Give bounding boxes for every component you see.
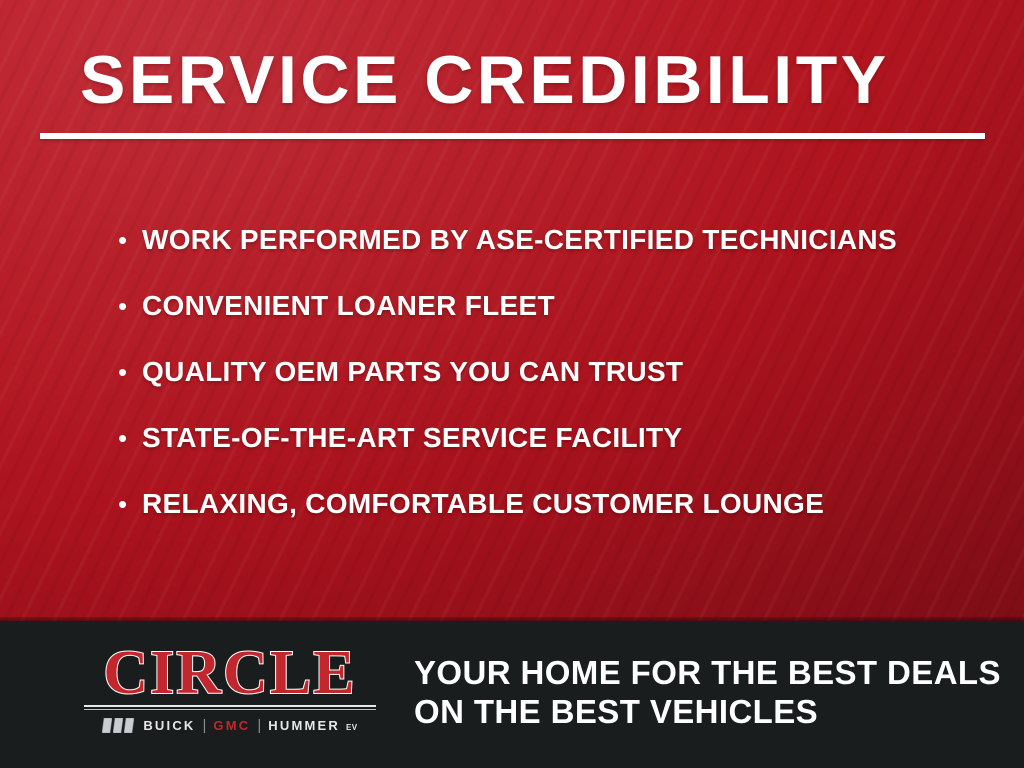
brand-hummer-label: HUMMER xyxy=(268,718,340,733)
tagline-line-2: ON THE BEST VEHICLES xyxy=(414,692,1001,731)
brand-lockup: BUICK | GMC | HUMMER EV xyxy=(84,717,376,734)
service-credibility-slide: SERVICE CREDIBILITY • WORK PERFORMED BY … xyxy=(0,0,1024,768)
buick-tri-shield-icon xyxy=(102,718,134,733)
page-title: SERVICE CREDIBILITY xyxy=(80,44,980,116)
brand-separator: | xyxy=(257,717,261,734)
bullet-dot-icon: • xyxy=(118,491,142,517)
bullet-dot-icon: • xyxy=(118,293,142,319)
brand-separator: | xyxy=(203,717,207,734)
list-item: • WORK PERFORMED BY ASE-CERTIFIED TECHNI… xyxy=(118,224,998,290)
dealer-tagline: YOUR HOME FOR THE BEST DEALS ON THE BEST… xyxy=(414,653,1001,731)
list-item-label: QUALITY OEM PARTS YOU CAN TRUST xyxy=(142,356,683,388)
list-item: • RELAXING, COMFORTABLE CUSTOMER LOUNGE xyxy=(118,488,998,554)
bullet-dot-icon: • xyxy=(118,425,142,451)
list-item-label: CONVENIENT LOANER FLEET xyxy=(142,290,555,322)
list-item-label: RELAXING, COMFORTABLE CUSTOMER LOUNGE xyxy=(142,488,824,520)
list-item: • CONVENIENT LOANER FLEET xyxy=(118,290,998,356)
list-item: • STATE-OF-THE-ART SERVICE FACILITY xyxy=(118,422,998,488)
list-item-label: STATE-OF-THE-ART SERVICE FACILITY xyxy=(142,422,682,454)
brand-gmc-label: GMC xyxy=(213,718,250,733)
benefits-list: • WORK PERFORMED BY ASE-CERTIFIED TECHNI… xyxy=(118,224,998,554)
tagline-line-1: YOUR HOME FOR THE BEST DEALS xyxy=(414,653,1001,692)
title-underline-rule xyxy=(40,133,985,139)
brand-buick-label: BUICK xyxy=(143,718,195,733)
list-item: • QUALITY OEM PARTS YOU CAN TRUST xyxy=(118,356,998,422)
bullet-dot-icon: • xyxy=(118,359,142,385)
dealer-logo: CIRCLE BUICK | GMC | HUMMER EV xyxy=(84,644,376,734)
brand-hummer-ev-suffix: EV xyxy=(346,723,358,732)
list-item-label: WORK PERFORMED BY ASE-CERTIFIED TECHNICI… xyxy=(142,224,897,256)
dealer-wordmark: CIRCLE xyxy=(84,644,376,702)
logo-divider-thin xyxy=(84,709,376,710)
bullet-dot-icon: • xyxy=(118,227,142,253)
